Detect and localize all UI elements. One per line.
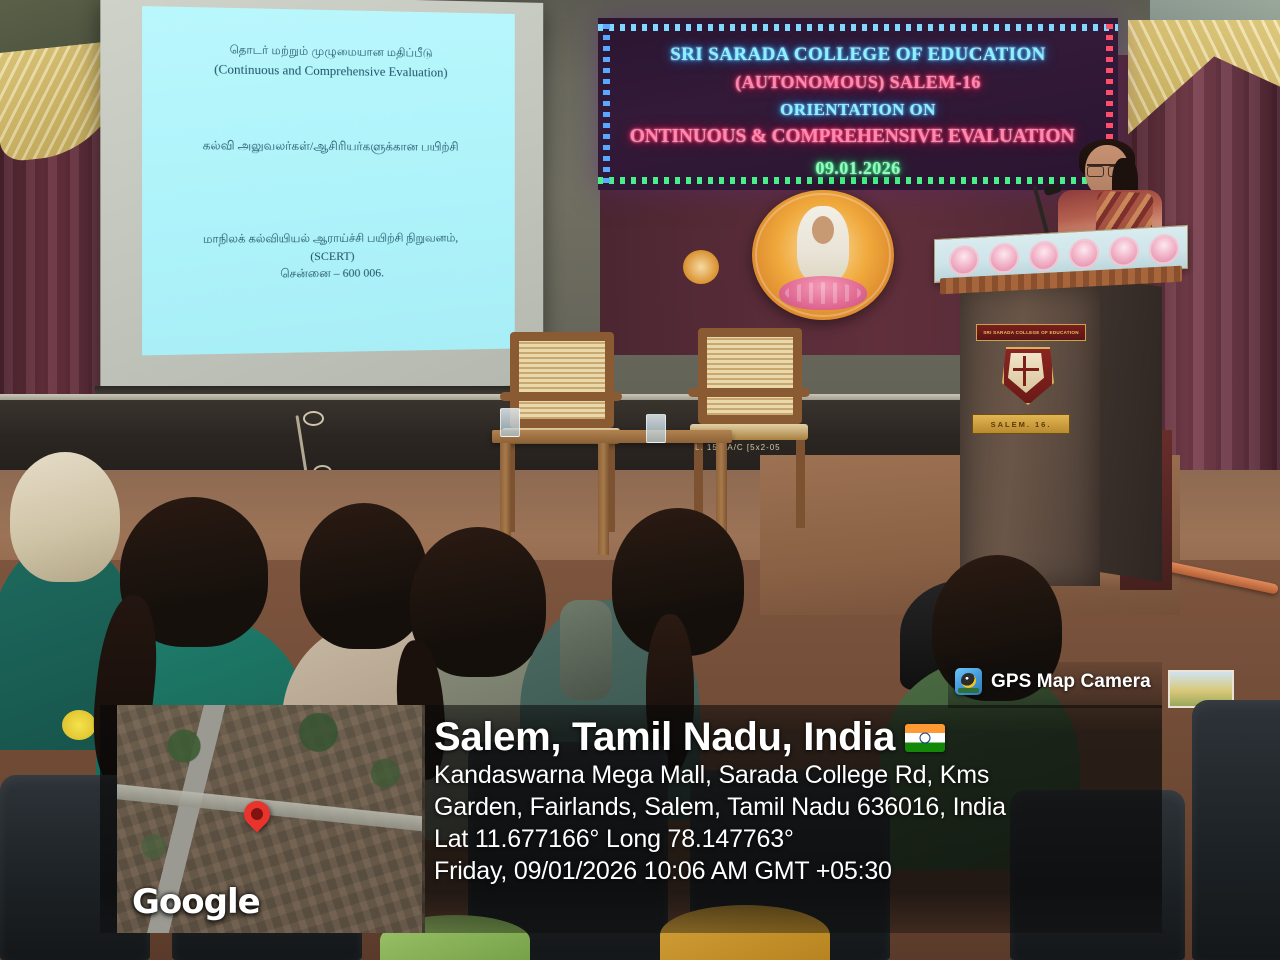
- auditorium-seat-6: [1192, 700, 1280, 960]
- gps-info-block: Salem, Tamil Nadu, India Kandaswarna Meg…: [434, 716, 1134, 887]
- podium-medallion-3: [1029, 240, 1059, 272]
- audience-bag: [560, 600, 612, 700]
- podium-medallion-6: [1149, 233, 1179, 265]
- led-line-orientation: ORIENTATION ON: [598, 100, 1118, 120]
- photograph: தொடர் மற்றும் முழுமையான மதிப்பீடு (Conti…: [0, 0, 1280, 960]
- hair-flower-icon: [62, 710, 96, 740]
- podium-side-panel: [1100, 277, 1162, 582]
- slide-line-1: தொடர் மற்றும் முழுமையான மதிப்பீடு: [142, 43, 515, 63]
- gps-location-title: Salem, Tamil Nadu, India: [434, 716, 1134, 759]
- slide-line-2: (Continuous and Comprehensive Evaluation…: [142, 60, 515, 81]
- slide-line-3: கல்வி அலுவலர்கள்/ஆசிரியர்களுக்கான பயிற்ச…: [142, 138, 515, 156]
- stage-table: [492, 430, 732, 443]
- watermark-label: GPS Map Camera: [991, 671, 1151, 693]
- led-line-autonomous: (AUTONOMOUS) SALEM-16: [598, 72, 1118, 93]
- water-glass-right: [646, 414, 666, 443]
- chair-inventory-marking: L. 15C A/C [5x2-05: [695, 443, 781, 452]
- gps-address-line-2: Garden, Fairlands, Salem, Tamil Nadu 636…: [434, 791, 1134, 823]
- podium-location-plate: SALEM. 16.: [972, 414, 1070, 434]
- gps-datetime: Friday, 09/01/2026 10:06 AM GMT +05:30: [434, 855, 1134, 887]
- projection-screen: தொடர் மற்றும் முழுமையான மதிப்பீடு (Conti…: [100, 0, 543, 395]
- podium-plaque-text: SRI SARADA COLLEGE OF EDUCATION: [983, 330, 1079, 335]
- podium-plate-text: SALEM. 16.: [991, 420, 1052, 429]
- podium-medallion-1: [949, 245, 979, 277]
- audience-member-3-head: [300, 503, 428, 649]
- podium-medallion-2: [989, 242, 1019, 274]
- slide-line-5: (SCERT): [142, 248, 515, 266]
- led-display-banner: SRI SARADA COLLEGE OF EDUCATION (AUTONOM…: [598, 18, 1118, 190]
- gps-map-camera-icon: [955, 668, 982, 695]
- chair-arm-left: [500, 392, 622, 401]
- crest-mark-v: [1023, 356, 1026, 386]
- google-logo: Google: [132, 882, 260, 922]
- gps-coordinates: Lat 11.677166° Long 78.147763°: [434, 823, 1134, 855]
- table-leg-mid: [598, 443, 609, 555]
- audience-member-1-headscarf: [10, 452, 120, 582]
- gps-address-line-1: Kandaswarna Mega Mall, Sarada College Rd…: [434, 759, 1134, 791]
- led-line-college-name: SRI SARADA COLLEGE OF EDUCATION: [598, 44, 1118, 66]
- podium-medallion-5: [1109, 236, 1139, 268]
- water-glass-left: [500, 408, 520, 437]
- chair-back-right: [698, 328, 802, 424]
- podium-medallion-4: [1069, 238, 1099, 270]
- led-line-date: 09.01.2026: [598, 158, 1118, 179]
- sarada-devi-emblem-icon: [752, 190, 894, 320]
- map-road: [117, 781, 425, 836]
- stage-cable-ring: [303, 411, 324, 426]
- podium-name-plaque: SRI SARADA COLLEGE OF EDUCATION: [976, 324, 1086, 341]
- secondary-emblem-icon: [683, 250, 719, 284]
- chair-arm-right: [688, 388, 810, 397]
- chair-leg-right-back: [796, 440, 805, 528]
- gps-map-camera-watermark: GPS Map Camera: [955, 668, 1151, 695]
- gps-location-title-text: Salem, Tamil Nadu, India: [434, 716, 895, 759]
- slide-line-6: சென்னை – 600 006.: [142, 264, 515, 283]
- crest-mark-h: [1013, 368, 1039, 371]
- chair-back-left: [510, 332, 614, 428]
- presentation-slide: தொடர் மற்றும் முழுமையான மதிப்பீடு (Conti…: [142, 6, 515, 355]
- led-line-topic: ONTINUOUS & COMPREHENSIVE EVALUATION: [576, 126, 1128, 148]
- map-thumbnail: Google: [117, 705, 425, 933]
- emblem-lotus-icon: [779, 276, 867, 310]
- slide-line-4: மாநிலக் கல்வியியல் ஆராய்ச்சி பயிற்சி நிற…: [142, 232, 515, 248]
- emblem-figure-face: [812, 216, 834, 244]
- india-flag-icon: [905, 724, 945, 752]
- led-border-top: [598, 24, 1118, 31]
